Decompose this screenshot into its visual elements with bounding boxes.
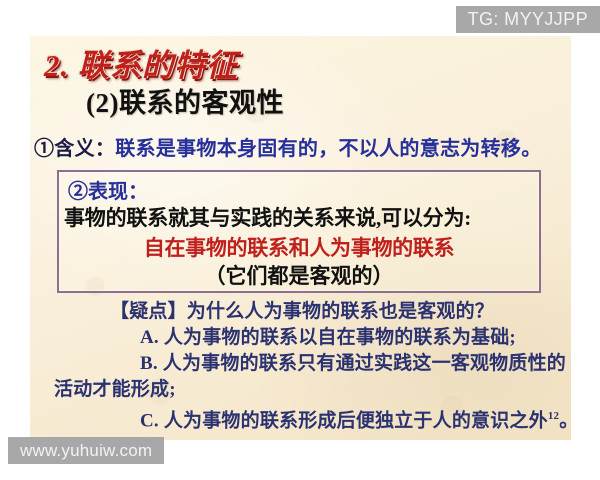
doubt-question: 【疑点】为什么人为事物的联系也是客观的？ (32, 299, 570, 325)
slide-subtitle: (2)联系的客观性 (86, 81, 284, 120)
doubt-item-a: A. 人为事物的联系以自在事物的联系为基础; (32, 325, 570, 351)
screenshot-root: 2. 联系的特征 (2)联系的客观性 ①含义：联系是事物本身固有的，不以人的意志… (0, 0, 600, 480)
doubt-item-b-continued: 活动才能形成; (32, 377, 570, 403)
meaning-text: 联系是事物本身固有的，不以人的意志为转移。 (115, 138, 541, 160)
page-title: 2. 联系的特征 (44, 40, 238, 85)
doubt-item-b: B. 人为事物的联系只有通过实践这一客观物质性的 (32, 351, 570, 377)
meaning-line: ①含义：联系是事物本身固有的，不以人的意志为转移。 (34, 132, 542, 161)
expression-box: ②表现： 事物的联系就其与实践的关系来说,可以分为: 自在事物的联系和人为事物的… (57, 170, 541, 293)
watermark-bottom-left: www.yuhuiw.com (8, 437, 164, 464)
footnote-tail: 。 (559, 410, 571, 431)
expression-note: （它们都是客观的） (59, 260, 539, 290)
expression-kinds: 自在事物的联系和人为事物的联系 (59, 232, 539, 262)
doubt-item-c: C. 人为事物的联系形成后便独立于人的意识之外12。 (32, 403, 570, 429)
footnote-marker: 12 (548, 410, 559, 422)
doubt-block: 【疑点】为什么人为事物的联系也是客观的？ A. 人为事物的联系以自在事物的联系为… (32, 299, 570, 429)
watermark-top-right: TG: MYYJJPP (456, 6, 600, 33)
doubt-item-c-text: C. 人为事物的联系形成后便独立于人的意识之外 (140, 410, 548, 431)
expression-label: ②表现： (68, 175, 148, 204)
presentation-slide: 2. 联系的特征 (2)联系的客观性 ①含义：联系是事物本身固有的，不以人的意志… (30, 36, 571, 440)
expression-statement: 事物的联系就其与实践的关系来说,可以分为: (64, 202, 534, 232)
meaning-label: ①含义： (34, 138, 115, 160)
